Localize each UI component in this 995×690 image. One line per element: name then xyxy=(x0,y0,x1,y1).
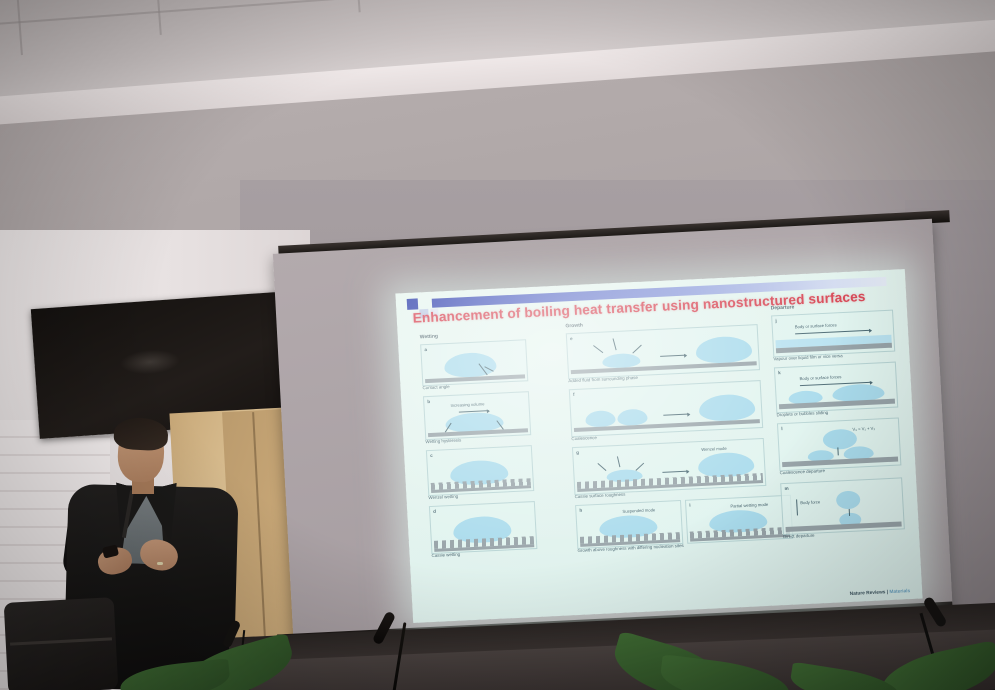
panel-i-inner-label: Partial wetting mode xyxy=(730,502,768,509)
panel-label: f xyxy=(573,392,575,397)
panel-k: k Body or surface forces xyxy=(774,362,898,414)
lecture-room-photo: Enhancement of boiling heat transfer usi… xyxy=(0,0,995,690)
panel-f-caption: Coalescence xyxy=(571,435,597,441)
panel-label: a xyxy=(424,347,427,352)
projected-slide: Enhancement of boiling heat transfer usi… xyxy=(395,269,922,623)
panel-label: h xyxy=(579,508,582,513)
panel-g-caption: Cassie surface roughness xyxy=(574,492,625,499)
panel-m: m Body force xyxy=(780,477,905,535)
presenter-ring xyxy=(157,562,163,565)
credit-source: Nature Reviews xyxy=(850,590,886,597)
panel-a: a xyxy=(420,339,528,386)
panel-label: k xyxy=(778,370,781,375)
panel-g: g Wenzel mode xyxy=(572,438,766,495)
panel-l-inner-label: V₃ = V₁ + V₂ xyxy=(852,426,875,432)
panel-c: c xyxy=(426,445,534,496)
panel-label: b xyxy=(427,399,430,404)
panel-label: g xyxy=(576,450,579,455)
panel-label: e xyxy=(570,336,573,341)
panel-label: m xyxy=(784,486,788,491)
panel-c-caption: Wenzel wetting xyxy=(428,494,458,500)
panel-j: j Body or surface forces xyxy=(771,310,895,358)
panel-e: e xyxy=(566,324,760,379)
column-header-wetting: Wetting xyxy=(420,333,439,340)
panel-j-inner-label: Body or surface forces xyxy=(795,322,837,329)
blackboard-glare xyxy=(119,348,181,376)
credit-journal: Materials xyxy=(889,589,910,595)
panel-h: h Suspended mode xyxy=(575,500,683,549)
slide-accent-square xyxy=(407,298,419,310)
panel-label: c xyxy=(430,453,433,458)
column-header-growth: Growth xyxy=(565,323,583,330)
panel-b-caption: Wetting hysteresis xyxy=(425,437,461,444)
panel-label: l xyxy=(781,426,783,431)
panel-l: l V₃ = V₁ + V₂ xyxy=(777,417,901,471)
panel-b: b Increasing volume xyxy=(423,391,531,440)
panel-l-caption: Coalescence departure xyxy=(779,468,825,475)
figure-credit: Nature Reviews | Materials xyxy=(850,589,911,597)
panel-d-caption: Cassie wetting xyxy=(431,552,460,558)
panel-label: i xyxy=(689,503,691,508)
panel-m-caption: Direct departure xyxy=(783,533,815,540)
panel-i: i Partial wetting mode xyxy=(685,495,793,544)
panel-f: f xyxy=(569,380,763,437)
panel-label: d xyxy=(433,509,436,514)
column-header-departure: Departure xyxy=(771,304,795,311)
panel-h-inner-label: Suspended mode xyxy=(622,507,655,514)
panel-m-inner-label: Body force xyxy=(800,500,822,506)
panel-a-caption: Contact angle xyxy=(422,384,449,390)
panel-g-inner-label: Wenzel mode xyxy=(701,446,727,452)
panel-b-inner-label: Increasing volume xyxy=(450,401,484,408)
panel-k-inner-label: Body or surface forces xyxy=(799,374,841,381)
panel-label: j xyxy=(775,318,777,323)
panel-d: d xyxy=(429,501,537,554)
panel-k-caption: Droplets or bubbles sliding xyxy=(776,410,828,417)
